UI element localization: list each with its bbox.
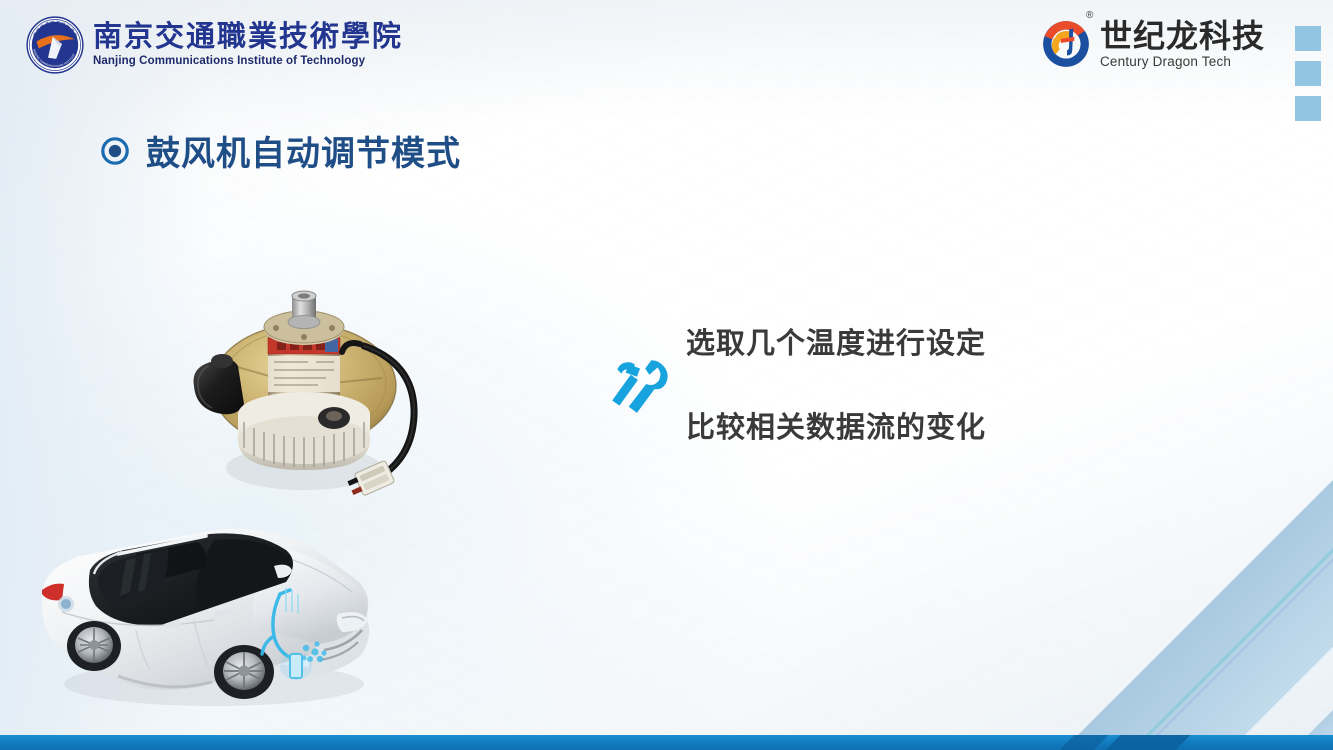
company-name-cn: 世纪龙科技 <box>1100 20 1265 52</box>
bullet-line-1: 选取几个温度进行设定 <box>686 328 986 360</box>
university-logo: 南京交通職業技術學院 NANJING COMMUNICATIONS INSTIT… <box>26 16 403 74</box>
decor-square-stack <box>1295 26 1321 121</box>
footer-bar-notch-1 <box>1106 735 1191 750</box>
university-seal-icon: 南京交通職業技術學院 NANJING COMMUNICATIONS INSTIT… <box>26 16 84 74</box>
footer-bar-notch-2 <box>1060 735 1109 750</box>
hammer-wrench-icon <box>606 352 672 418</box>
slide-root: 南京交通職業技術學院 NANJING COMMUNICATIONS INSTIT… <box>0 0 1333 750</box>
bullet-line-list: 选取几个温度进行设定 比较相关数据流的变化 <box>686 322 986 444</box>
decor-square-1 <box>1295 26 1321 51</box>
company-name-en: Century Dragon Tech <box>1100 55 1265 69</box>
registered-trademark-icon: ® <box>1086 11 1093 21</box>
blower-motor-photo <box>178 282 428 522</box>
slide-header: 南京交通職業技術學院 NANJING COMMUNICATIONS INSTIT… <box>0 0 1333 98</box>
slide-title-row: 鼓风机自动调节模式 <box>100 126 461 175</box>
university-name-cn: 南京交通職業技術學院 <box>93 23 403 52</box>
university-name-en: Nanjing Communications Institute of Tech… <box>93 56 403 68</box>
century-dragon-circle-icon <box>1040 18 1092 70</box>
page-title: 鼓风机自动调节模式 <box>146 126 461 175</box>
company-logo: ® 世纪龙科技 Century Dragon Tech <box>1040 18 1265 70</box>
diagonal-band-medium <box>1213 330 1333 750</box>
bullet-line-2: 比较相关数据流的变化 <box>686 412 986 444</box>
decor-square-2 <box>1295 61 1321 86</box>
footer-bar <box>0 735 1333 750</box>
sedan-hvac-cutaway-photo <box>18 508 390 713</box>
content-block: 选取几个温度进行设定 比较相关数据流的变化 <box>606 322 1126 444</box>
diagonal-band-narrow <box>1269 330 1333 750</box>
company-name-block: ® 世纪龙科技 Century Dragon Tech <box>1100 20 1265 69</box>
target-bullet-icon <box>100 136 130 166</box>
university-name-block: 南京交通職業技術學院 Nanjing Communications Instit… <box>93 23 403 68</box>
decor-square-3 <box>1295 96 1321 121</box>
